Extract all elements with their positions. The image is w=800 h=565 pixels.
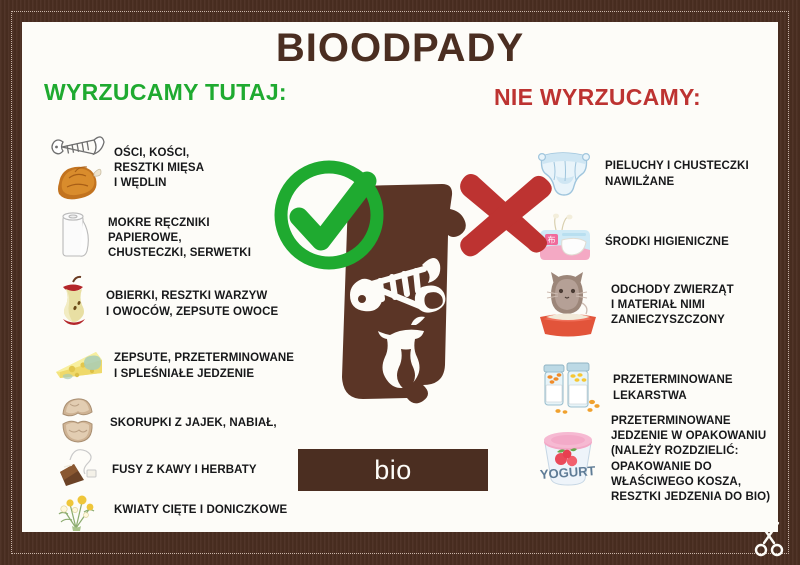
red-cross-icon	[451, 160, 561, 270]
yogurt-cup-icon: YOGURT	[534, 425, 602, 494]
page-title: BIOODPADY	[22, 26, 778, 71]
paper-towel-roll-icon	[56, 208, 100, 269]
svg-text:YOGURT: YOGURT	[539, 463, 596, 482]
fish-bones-and-roast-meat-icon	[48, 128, 106, 209]
list-item-label: ŚRODKI HIGIENICZNE	[605, 235, 729, 250]
list-item: ZEPSUTE, PRZETERMINOWANE I SPLEŚNIAŁE JE…	[50, 342, 318, 391]
mouldy-cheese-icon	[50, 342, 106, 391]
list-item-label: KWIATY CIĘTE I DONICZKOWE	[114, 503, 287, 518]
list-item: PIELUCHY I CHUSTECZKI NAWILŻANE	[534, 144, 764, 205]
list-item-label: MOKRE RĘCZNIKI PAPIEROWE, CHUSTECZKI, SE…	[108, 216, 251, 262]
list-item-label: ODCHODY ZWIERZĄT I MATERIAŁ NIMI ZANIECZ…	[611, 283, 734, 329]
apple-core-icon	[50, 274, 98, 335]
poster-canvas: BIOODPADY WYRZUCAMY TUTAJ: NIE WYRZUCAMY…	[22, 22, 778, 532]
bio-bin-illustration	[318, 157, 498, 457]
list-item: 布 ŚRODKI HIGIENICZNE	[532, 212, 767, 273]
list-item: OBIERKI, RESZTKI WARZYW I OWOCÓW, ZEPSUT…	[50, 274, 305, 335]
bio-label-text: bio	[374, 455, 412, 486]
list-item: MOKRE RĘCZNIKI PAPIEROWE, CHUSTECZKI, SE…	[56, 208, 291, 269]
green-check-icon	[269, 155, 389, 275]
list-item: OŚCI, KOŚCI, RESZTKI MIĘSA I WĘDLIN	[48, 128, 278, 209]
flower-bouquet-icon	[50, 484, 106, 532]
list-item-label: ZEPSUTE, PRZETERMINOWANE I SPLEŚNIAŁE JE…	[114, 351, 294, 381]
list-item-label: SKORUPKI Z JAJEK, NABIAŁ,	[110, 416, 277, 431]
accepted-heading: WYRZUCAMY TUTAJ:	[44, 79, 287, 106]
list-item: PRZETERMINOWANE LEKARSTWA	[534, 355, 766, 422]
cat-litter-box-icon	[534, 267, 602, 344]
list-item-label: PIELUCHY I CHUSTECZKI NAWILŻANE	[605, 159, 749, 189]
poster-frame: BIOODPADY WYRZUCAMY TUTAJ: NIE WYRZUCAMY…	[0, 0, 800, 565]
rejected-heading: NIE WYRZUCAMY:	[494, 84, 701, 111]
list-item: ODCHODY ZWIERZĄT I MATERIAŁ NIMI ZANIECZ…	[534, 267, 769, 344]
list-item-label: FUSY Z KAWY I HERBATY	[112, 463, 257, 478]
list-item-label: OBIERKI, RESZTKI WARZYW I OWOCÓW, ZEPSUT…	[106, 289, 278, 319]
list-item-label: OŚCI, KOŚCI, RESZTKI MIĘSA I WĘDLIN	[114, 146, 204, 192]
list-item-label: PRZETERMINOWANE JEDZENIE W OPAKOWANIU (N…	[611, 414, 770, 505]
scissors-icon	[752, 519, 786, 559]
medicine-bottles-icon	[534, 355, 604, 422]
list-item-label: PRZETERMINOWANE LEKARSTWA	[613, 373, 733, 403]
bio-label-plate: bio	[298, 449, 488, 491]
list-item: KWIATY CIĘTE I DONICZKOWE	[50, 484, 310, 532]
list-item: YOGURT PRZETERMINOWANE JEDZENIE W OPAKOW…	[534, 414, 774, 505]
